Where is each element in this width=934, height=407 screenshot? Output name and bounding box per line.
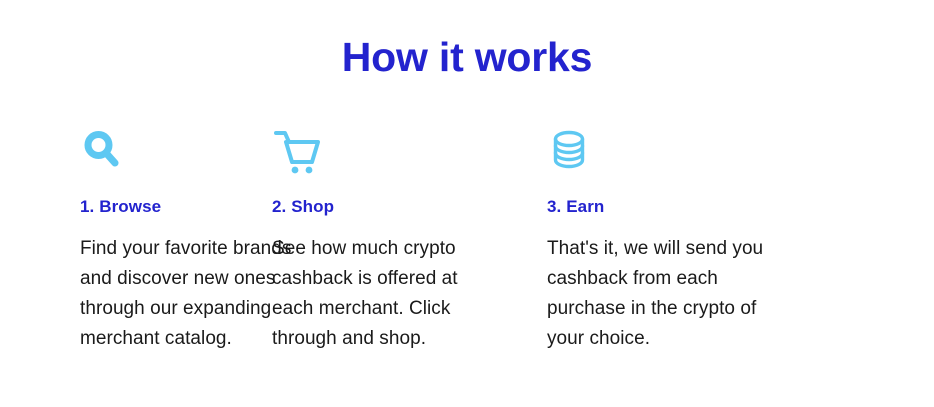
step-body-shop: See how much crypto cashback is offered …	[272, 234, 492, 354]
step-card-earn: 3. Earn That's it, we will send you cash…	[547, 128, 934, 354]
step-title-browse: 1. Browse	[80, 196, 272, 218]
page-title: How it works	[0, 33, 934, 81]
step-card-browse: 1. Browse Find your favorite brands and …	[0, 128, 272, 354]
step-card-shop: 2. Shop See how much crypto cashback is …	[272, 128, 547, 354]
step-title-shop: 2. Shop	[272, 196, 547, 218]
step-body-earn: That's it, we will send you cashback fro…	[547, 234, 795, 354]
search-icon	[80, 128, 272, 180]
coin-stack-icon	[547, 128, 934, 180]
step-title-earn: 3. Earn	[547, 196, 934, 218]
how-it-works-section: How it works 1. Browse Find your favorit…	[0, 0, 934, 407]
shopping-cart-icon	[272, 128, 547, 180]
steps-container: 1. Browse Find your favorite brands and …	[0, 128, 934, 354]
